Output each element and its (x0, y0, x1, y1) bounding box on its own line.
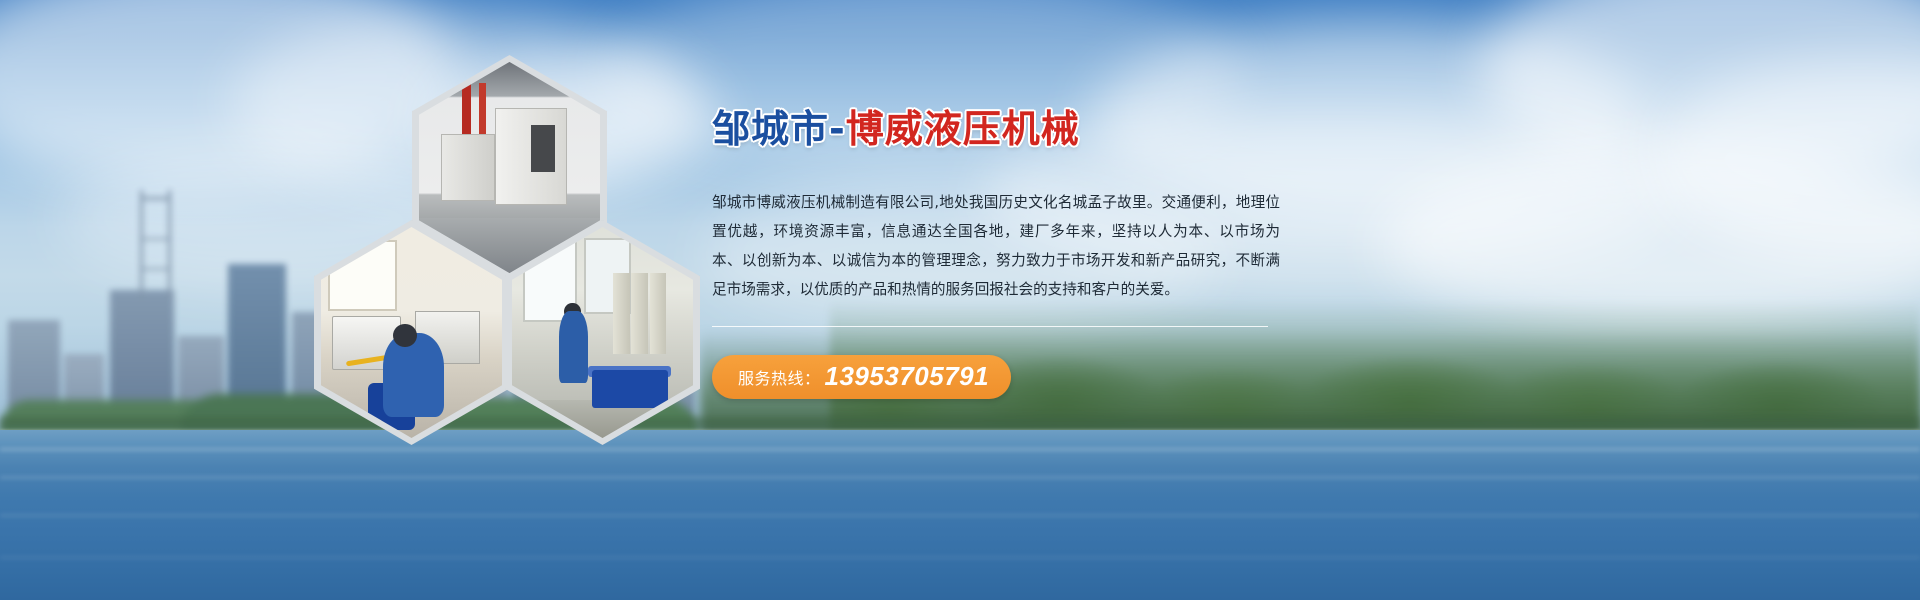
company-title-red: 博威液压机械 (846, 107, 1080, 151)
banner-stage: 邹城市-博威液压机械 邹城市博威液压机械制造有限公司,地处我国历史文化名城孟子故… (0, 0, 1920, 600)
banner-text-panel: 邹城市-博威液压机械 邹城市博威液压机械制造有限公司,地处我国历史文化名城孟子故… (712, 110, 1292, 399)
company-title: 邹城市-博威液压机械 (712, 110, 1292, 150)
company-description: 邹城市博威液压机械制造有限公司,地处我国历史文化名城孟子故里。交通便利，地理位置… (712, 188, 1280, 304)
hex-photo-cluster (300, 55, 700, 445)
river-water (0, 430, 1920, 600)
company-title-blue: 邹城市- (712, 107, 846, 151)
hotline-number: 13953705791 (825, 361, 990, 392)
hotline-button[interactable]: 服务热线： 13953705791 (712, 355, 1011, 399)
section-divider (712, 326, 1268, 327)
hotline-label: 服务热线： (738, 365, 821, 389)
